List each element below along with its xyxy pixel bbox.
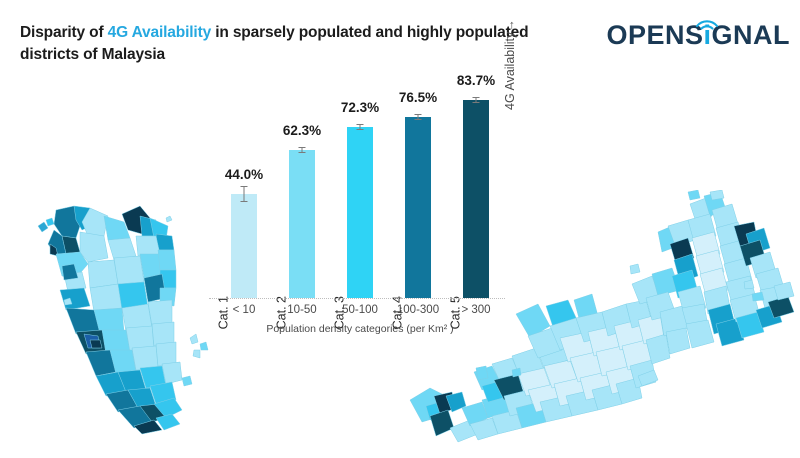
error-bar-2 <box>302 147 303 153</box>
page-title: Disparity of 4G Availability in sparsely… <box>20 22 560 66</box>
bar-1[interactable]: 44.0% <box>231 194 257 298</box>
x-tick-label-1: < 10 <box>233 304 256 316</box>
infographic-canvas: Disparity of 4G Availability in sparsely… <box>0 0 800 458</box>
bar-value-label-3: 72.3% <box>341 100 379 115</box>
bar-group-2: 62.3%Cat. 2 <box>289 80 315 298</box>
logo-text-before: OPENS <box>606 22 703 49</box>
bar-value-label-2: 62.3% <box>283 123 321 138</box>
title-text-before: Disparity of <box>20 24 108 41</box>
error-bar-5 <box>476 97 477 103</box>
peninsular-malaysia-map <box>4 192 224 442</box>
logo-text-after: GNAL <box>712 22 791 49</box>
error-bar-3 <box>360 124 361 130</box>
bar-group-1: 44.0%Cat. 1 <box>231 80 257 298</box>
title-accent-text: 4G Availability <box>108 24 211 41</box>
bar-value-label-1: 44.0% <box>225 167 263 182</box>
x-tick-label-3: 50-100 <box>342 304 378 316</box>
y-axis-title: 4G Availability→ <box>503 19 517 110</box>
east-malaysia-map <box>400 190 800 458</box>
bar-2[interactable]: 62.3% <box>289 150 315 298</box>
wifi-signal-icon <box>694 8 720 35</box>
bar-3[interactable]: 72.3% <box>347 127 373 298</box>
bar-group-3: 72.3%Cat. 3 <box>347 80 373 298</box>
error-bar-4 <box>418 114 419 120</box>
bar-value-label-5: 83.7% <box>457 73 495 88</box>
opensignal-logo: OPENSiGNAL <box>606 22 790 62</box>
error-bar-1 <box>244 186 245 202</box>
x-tick-label-2: 10-50 <box>287 304 316 316</box>
bar-value-label-4: 76.5% <box>399 90 437 105</box>
logo-letter-i: i <box>703 22 711 49</box>
